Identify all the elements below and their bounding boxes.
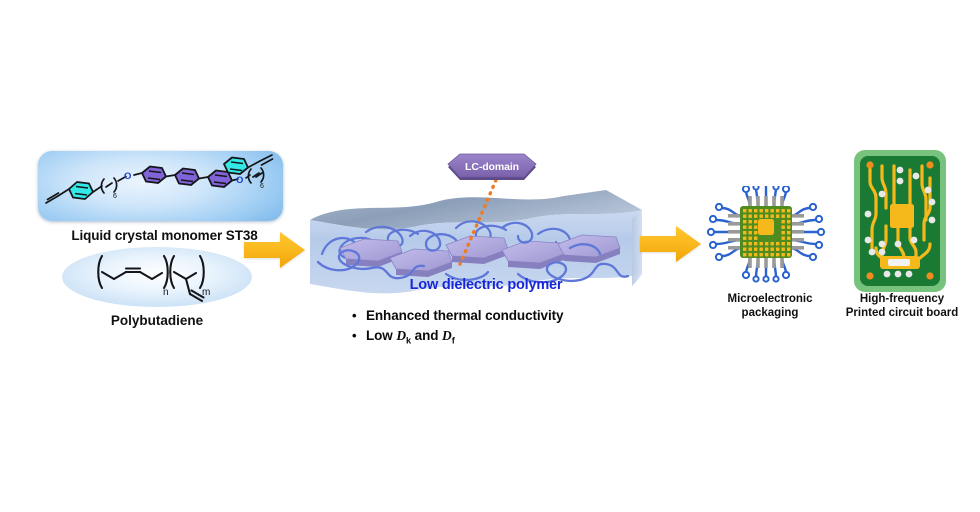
df-symbol: Df: [442, 328, 455, 343]
lc-domain-badge[interactable]: LC-domain: [446, 152, 538, 182]
microelectronic-package-icon: [706, 186, 826, 294]
pcb-label-line1: High-frequency: [832, 292, 972, 306]
figure-canvas: 6 O: [0, 0, 980, 512]
bullet-text-rich: Low Dk and Df: [366, 326, 455, 351]
monomer-subscript-left: 6: [113, 193, 117, 200]
feature-bullet-list: • Enhanced thermal conductivity • Low Dk…: [352, 306, 612, 351]
pcb-center-chip: [890, 204, 914, 228]
chip-svg: [706, 186, 826, 294]
pbd-subscript-n: n: [163, 287, 169, 298]
pcb-label: High-frequency Printed circuit board: [832, 292, 972, 320]
bullet-text: Enhanced thermal conductivity: [366, 306, 563, 326]
dk-symbol: Dk: [396, 328, 411, 343]
oxygen-atom-left: O: [124, 171, 131, 182]
pcb-svg: [852, 148, 948, 294]
list-item: • Enhanced thermal conductivity: [352, 306, 612, 326]
chip-label-line1: Microelectronic: [716, 292, 824, 306]
polybutadiene-structure-svg: n m: [90, 250, 230, 308]
chip-die: [758, 219, 774, 235]
pcb-bottom-component: [880, 256, 920, 269]
terminal-ring-left: [69, 182, 93, 199]
chip-label: Microelectronic packaging: [716, 292, 824, 320]
oxygen-atom-right: O: [236, 175, 243, 186]
terminal-ring-right: [224, 158, 248, 175]
monomer-structure-svg: 6 O: [38, 151, 283, 221]
list-item: • Low Dk and Df: [352, 326, 612, 351]
printed-circuit-board-icon: [852, 148, 948, 294]
lc-domain-leader-line: [440, 176, 510, 276]
pcb-label-line2: Printed circuit board: [832, 306, 972, 320]
bullet-marker: •: [352, 306, 366, 326]
core-ring-1: [142, 167, 166, 184]
slab-caption: Low dielectric polymer: [396, 277, 576, 293]
process-arrow-1: [244, 229, 306, 276]
liquid-crystal-monomer-card: 6 O: [38, 151, 283, 221]
polybutadiene-label: Polybutadiene: [62, 313, 252, 328]
bullet-marker: •: [352, 326, 366, 346]
polybutadiene-structure: n m: [90, 250, 230, 313]
core-ring-2: [175, 169, 199, 186]
process-arrow-2: [640, 223, 702, 270]
chip-label-line2: packaging: [716, 306, 824, 320]
monomer-subscript-right: 6: [260, 183, 264, 190]
pbd-subscript-m: m: [202, 287, 210, 298]
